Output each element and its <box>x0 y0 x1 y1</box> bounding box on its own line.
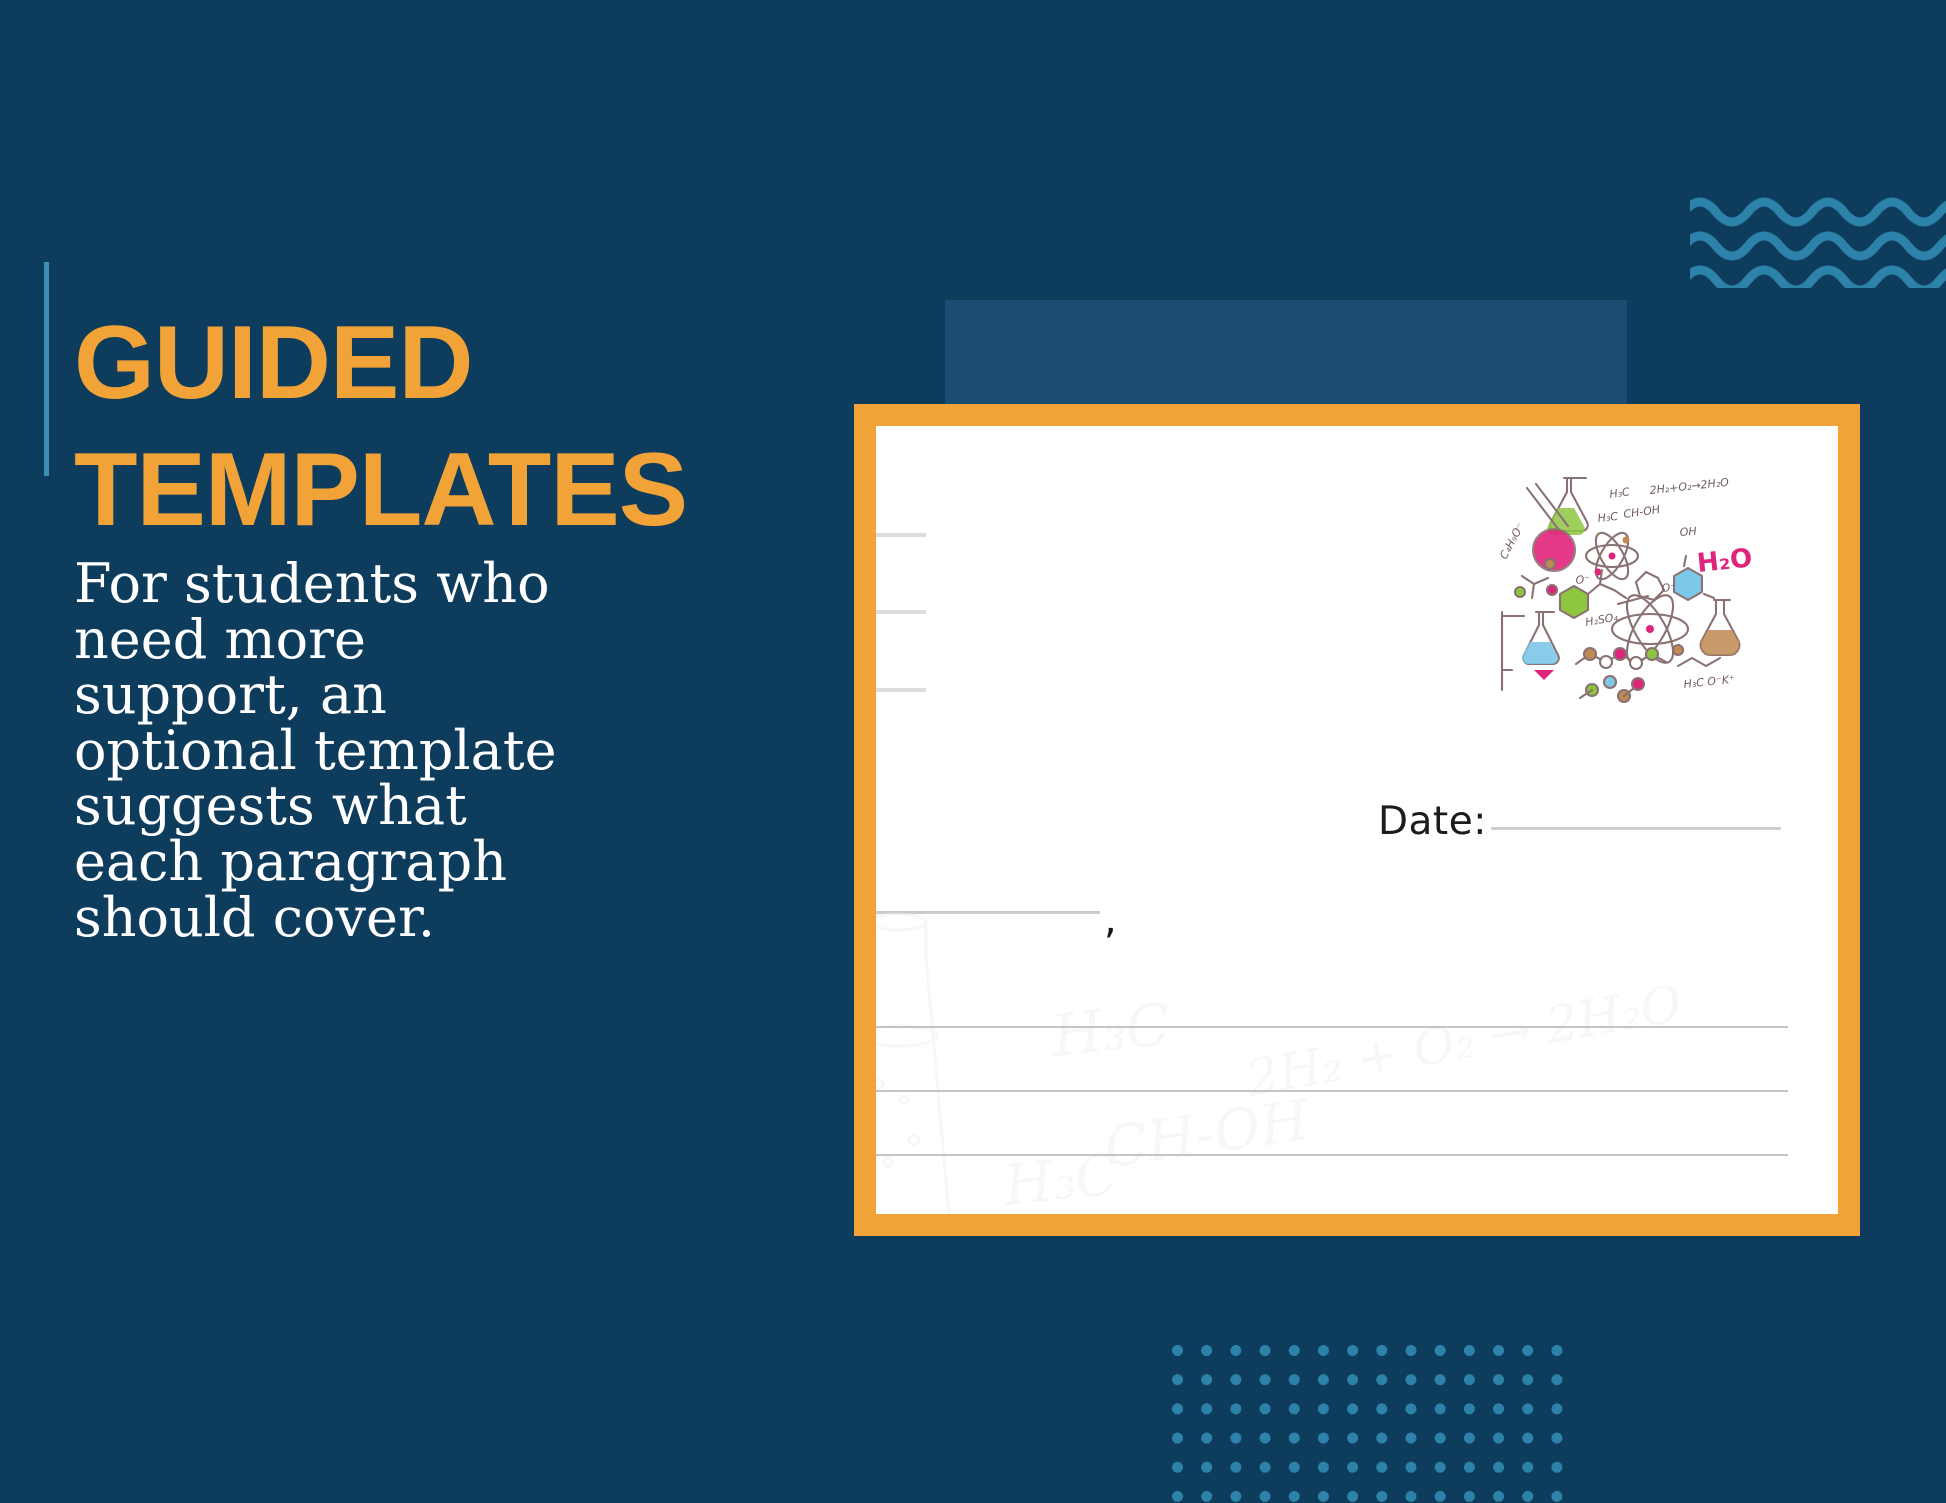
faint-chemistry-watermark: H₃C 2H₂ + O₂ → 2H₂O CH-OH H₃C <box>876 904 1576 1214</box>
salutation-field[interactable]: , <box>876 911 1136 914</box>
salutation-input-rule[interactable] <box>876 911 1100 914</box>
date-input-rule[interactable] <box>1491 827 1781 830</box>
svg-text:H₂SO₄: H₂SO₄ <box>1584 610 1619 629</box>
margin-rule-stub <box>876 688 926 692</box>
body-line-1: For students who <box>74 556 634 612</box>
svg-text:CH-OH: CH-OH <box>1623 503 1661 521</box>
writing-rule-line[interactable] <box>876 1090 1788 1092</box>
body-line-4: optional template <box>74 723 634 779</box>
svg-text:H₃C: H₃C <box>1609 485 1631 501</box>
svg-text:C₄H₉O⁻: C₄H₉O⁻ <box>1497 520 1527 561</box>
writing-rule-line[interactable] <box>876 1026 1788 1028</box>
body-line-2: need more <box>74 612 634 668</box>
page-title-line-1: GUIDED <box>74 300 714 427</box>
worksheet-frame: H₃C H₃C CH-OH 2H₂+O₂→2H₂O OH C₄H₉O⁻ H₂SO… <box>854 404 1860 1236</box>
svg-text:H₂O: H₂O <box>1696 543 1754 579</box>
watermark-formula-1: H₃C <box>1049 990 1174 1070</box>
chemistry-doodle-clipart-icon: H₃C H₃C CH-OH 2H₂+O₂→2H₂O OH C₄H₉O⁻ H₂SO… <box>1492 464 1762 704</box>
page-title: GUIDED TEMPLATES <box>74 300 714 554</box>
margin-rule-stub <box>876 533 926 537</box>
watermark-formula-4: H₃C <box>1001 1142 1121 1214</box>
body-line-6: each paragraph <box>74 834 634 890</box>
body-line-7: should cover. <box>74 890 634 946</box>
wave-pattern-decoration <box>1690 188 1946 288</box>
date-label: Date: <box>1378 799 1487 844</box>
dot-grid-decoration <box>1172 1345 1572 1503</box>
svg-text:O⁻: O⁻ <box>1661 581 1677 595</box>
page-title-line-2: TEMPLATES <box>74 427 714 554</box>
svg-text:2H₂+O₂→2H₂O: 2H₂+O₂→2H₂O <box>1649 476 1730 497</box>
body-line-3: support, an <box>74 667 634 723</box>
writing-rule-line[interactable] <box>876 1154 1788 1156</box>
svg-text:O⁻: O⁻ <box>1575 573 1591 587</box>
watermark-formula-3: CH-OH <box>1100 1088 1312 1181</box>
body-paragraph: For students who need more support, an o… <box>74 556 634 945</box>
vertical-accent-rule <box>44 262 49 476</box>
svg-text:OH: OH <box>1679 525 1697 539</box>
worksheet-page: H₃C H₃C CH-OH 2H₂+O₂→2H₂O OH C₄H₉O⁻ H₂SO… <box>876 426 1838 1214</box>
date-field[interactable]: Date: <box>1378 799 1781 844</box>
svg-text:H₃C: H₃C <box>1597 510 1619 525</box>
body-line-5: suggests what <box>74 778 634 834</box>
slide-canvas: GUIDED TEMPLATES For students who need m… <box>0 0 1946 1503</box>
svg-text:H₃C O⁻K⁺: H₃C O⁻K⁺ <box>1683 673 1736 691</box>
watermark-formula-2: 2H₂ + O₂ → 2H₂O <box>1242 974 1686 1108</box>
margin-rule-stub <box>876 610 926 614</box>
